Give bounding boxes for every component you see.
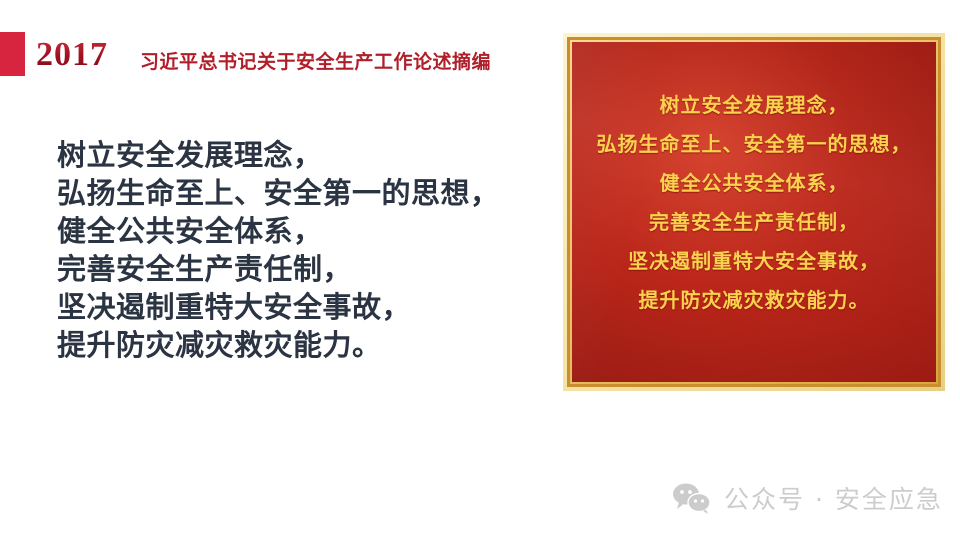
main-text-block: 树立安全发展理念， 弘扬生命至上、安全第一的思想， 健全公共安全体系， 完善安全… [57, 136, 527, 364]
page-title: 习近平总书记关于安全生产工作论述摘编 [140, 47, 491, 74]
poster-red-field: 树立安全发展理念， 弘扬生命至上、安全第一的思想， 健全公共安全体系， 完善安全… [572, 42, 936, 382]
poster-text-block: 树立安全发展理念， 弘扬生命至上、安全第一的思想， 健全公共安全体系， 完善安全… [572, 86, 936, 320]
header-accent-block [0, 32, 25, 76]
poster-text-line: 提升防灾减灾救灾能力。 [572, 281, 936, 320]
poster-text-line: 健全公共安全体系， [572, 164, 936, 203]
slide-canvas: 2017 习近平总书记关于安全生产工作论述摘编 树立安全发展理念， 弘扬生命至上… [0, 0, 960, 540]
poster-text-line: 树立安全发展理念， [572, 86, 936, 125]
poster-text-line: 完善安全生产责任制， [572, 203, 936, 242]
main-text-line: 完善安全生产责任制， [57, 250, 527, 288]
main-text-line: 弘扬生命至上、安全第一的思想， [57, 174, 527, 212]
main-text-line: 树立安全发展理念， [57, 136, 527, 174]
poster-text-line: 坚决遏制重特大安全事故， [572, 242, 936, 281]
wechat-watermark-label: 公众号 · 安全应急 [724, 480, 943, 516]
wechat-icon [672, 482, 712, 514]
main-text-line: 提升防灾减灾救灾能力。 [57, 326, 527, 364]
poster-gold-frame: 树立安全发展理念， 弘扬生命至上、安全第一的思想， 健全公共安全体系， 完善安全… [567, 37, 941, 387]
wechat-watermark: 公众号 · 安全应急 [672, 480, 943, 516]
header-year: 2017 [36, 36, 108, 74]
main-text-line: 坚决遏制重特大安全事故， [57, 288, 527, 326]
poster-text-line: 弘扬生命至上、安全第一的思想， [572, 125, 936, 164]
poster-image: 树立安全发展理念， 弘扬生命至上、安全第一的思想， 健全公共安全体系， 完善安全… [563, 33, 945, 391]
main-text-line: 健全公共安全体系， [57, 212, 527, 250]
